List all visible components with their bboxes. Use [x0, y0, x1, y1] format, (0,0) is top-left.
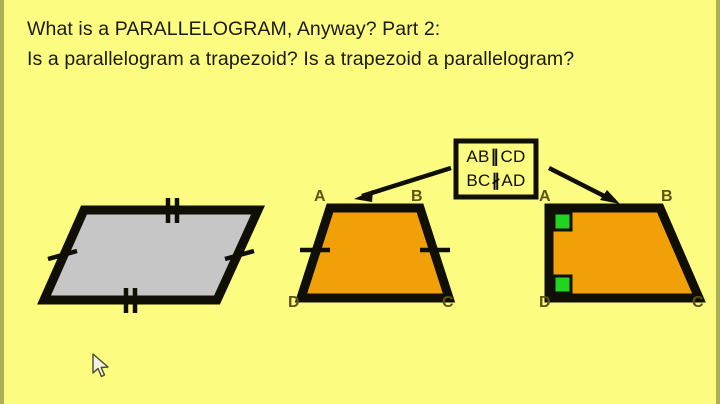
- not-parallel-symbol: ∦: [491, 169, 502, 193]
- right-trap-label-d: D: [539, 294, 551, 312]
- isosceles-label-c: C: [442, 294, 454, 312]
- orange-isosceles-trapezoid: [300, 208, 450, 298]
- arrow-to-right-trapezoid: [549, 168, 620, 204]
- callout-line2-left: BC: [466, 169, 490, 193]
- geometry-figure: [0, 0, 720, 404]
- callout-text: AB∥CD BC∦AD: [461, 144, 531, 194]
- isosceles-trapezoid-body: [301, 208, 449, 298]
- isosceles-label-b: B: [411, 188, 423, 206]
- gray-parallelogram: [44, 198, 258, 313]
- isosceles-label-a: A: [314, 188, 326, 206]
- right-trap-label-b: B: [661, 188, 673, 206]
- right-trap-label-a: A: [539, 188, 551, 206]
- orange-right-trapezoid: [549, 208, 699, 298]
- parallel-symbol: ∥: [490, 145, 501, 169]
- gray-parallelogram-body: [44, 210, 258, 300]
- right-angle-marker-a: [554, 213, 571, 230]
- video-frame: What is a PARALLELOGRAM, Anyway? Part 2:…: [0, 0, 720, 404]
- callout-line1-left: AB: [466, 145, 489, 169]
- right-trap-label-c: C: [692, 294, 704, 312]
- callout-line1-right: CD: [500, 145, 525, 169]
- right-angle-marker-d: [554, 276, 571, 293]
- isosceles-label-d: D: [288, 294, 300, 312]
- callout-line2-right: AD: [501, 169, 525, 193]
- arrow-to-isosceles-trapezoid: [354, 168, 451, 202]
